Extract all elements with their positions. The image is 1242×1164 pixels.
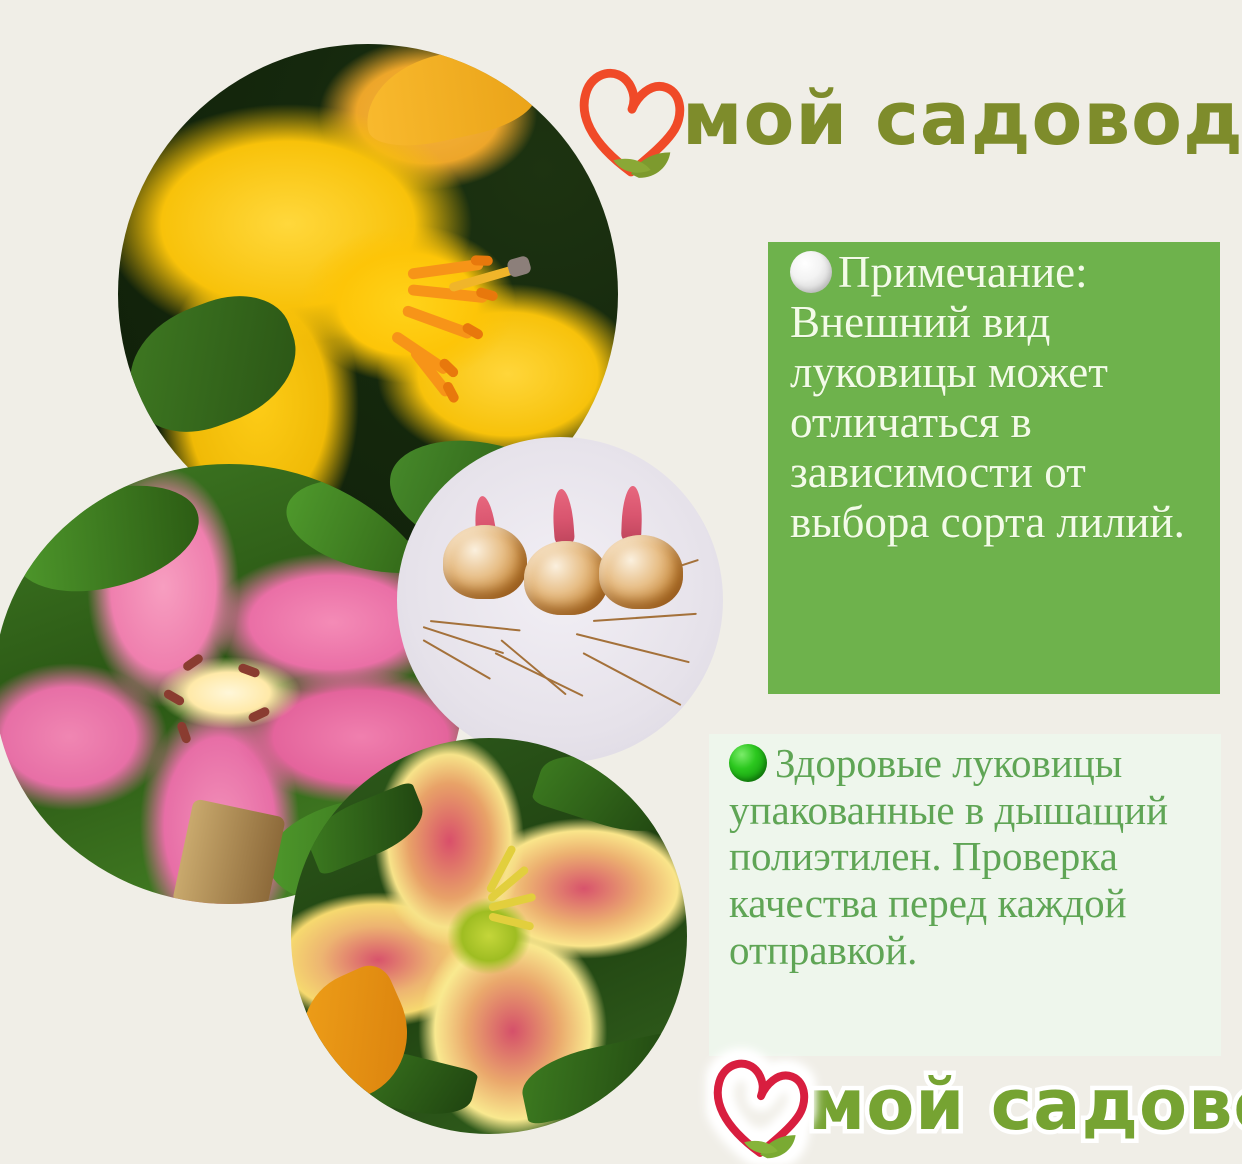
bulb-sprout-shape bbox=[552, 489, 576, 544]
anther-shape bbox=[181, 652, 204, 672]
leaf-shape bbox=[530, 741, 685, 845]
leaf-shape bbox=[118, 279, 313, 450]
brand-wordmark-bottom: мой садовод bbox=[808, 1064, 1242, 1146]
note-panel-text: Примечание: Внешний вид луковицы может о… bbox=[790, 248, 1214, 548]
quality-panel-text: Здоровые луковицы упакованные в дышащий … bbox=[729, 740, 1213, 974]
brand-wordmark-top: мой садовод bbox=[682, 76, 1242, 162]
green-sphere-bullet-icon bbox=[729, 744, 767, 782]
leaf-shape bbox=[516, 1031, 684, 1126]
heart-leaf-icon bbox=[578, 58, 686, 180]
note-panel: Примечание: Внешний вид луковицы может о… bbox=[768, 242, 1220, 694]
leaf-shape bbox=[3, 468, 210, 610]
lily-bud-shape bbox=[356, 44, 540, 156]
note-panel-body: Примечание: Внешний вид луковицы может о… bbox=[790, 247, 1185, 547]
stem-shape bbox=[172, 799, 286, 904]
red-yellow-lily-photo bbox=[291, 738, 687, 1134]
anther-shape bbox=[247, 706, 271, 723]
stamen-shape bbox=[407, 284, 488, 303]
quality-panel-body: Здоровые луковицы упакованные в дышащий … bbox=[729, 740, 1168, 973]
stamen-shape bbox=[488, 912, 535, 931]
anther-shape bbox=[238, 663, 262, 679]
root-shape bbox=[429, 620, 520, 632]
lily-bulb-shape bbox=[524, 541, 608, 615]
root-shape bbox=[494, 652, 583, 697]
brand-logo-bottom[interactable]: мой садовод bbox=[712, 1050, 1242, 1160]
white-sphere-bullet-icon bbox=[790, 251, 832, 293]
brand-logo-top[interactable]: мой садовод bbox=[578, 58, 1242, 180]
root-shape bbox=[593, 612, 697, 621]
bulb-sprout-shape bbox=[621, 486, 643, 541]
root-shape bbox=[423, 626, 504, 654]
heart-leaf-icon bbox=[712, 1050, 810, 1160]
stamen-shape bbox=[401, 304, 474, 340]
lily-bulbs-photo bbox=[397, 437, 723, 763]
anther-shape bbox=[162, 688, 186, 707]
root-shape bbox=[501, 639, 567, 695]
root-shape bbox=[582, 652, 681, 706]
lily-bulb-shape bbox=[443, 525, 527, 599]
quality-panel: Здоровые луковицы упакованные в дышащий … bbox=[709, 734, 1221, 1056]
anther-shape bbox=[176, 721, 192, 745]
poster-canvas: мой садовод Примечание: Внешний вид луко… bbox=[0, 0, 1242, 1164]
lily-bulb-shape bbox=[599, 535, 683, 609]
